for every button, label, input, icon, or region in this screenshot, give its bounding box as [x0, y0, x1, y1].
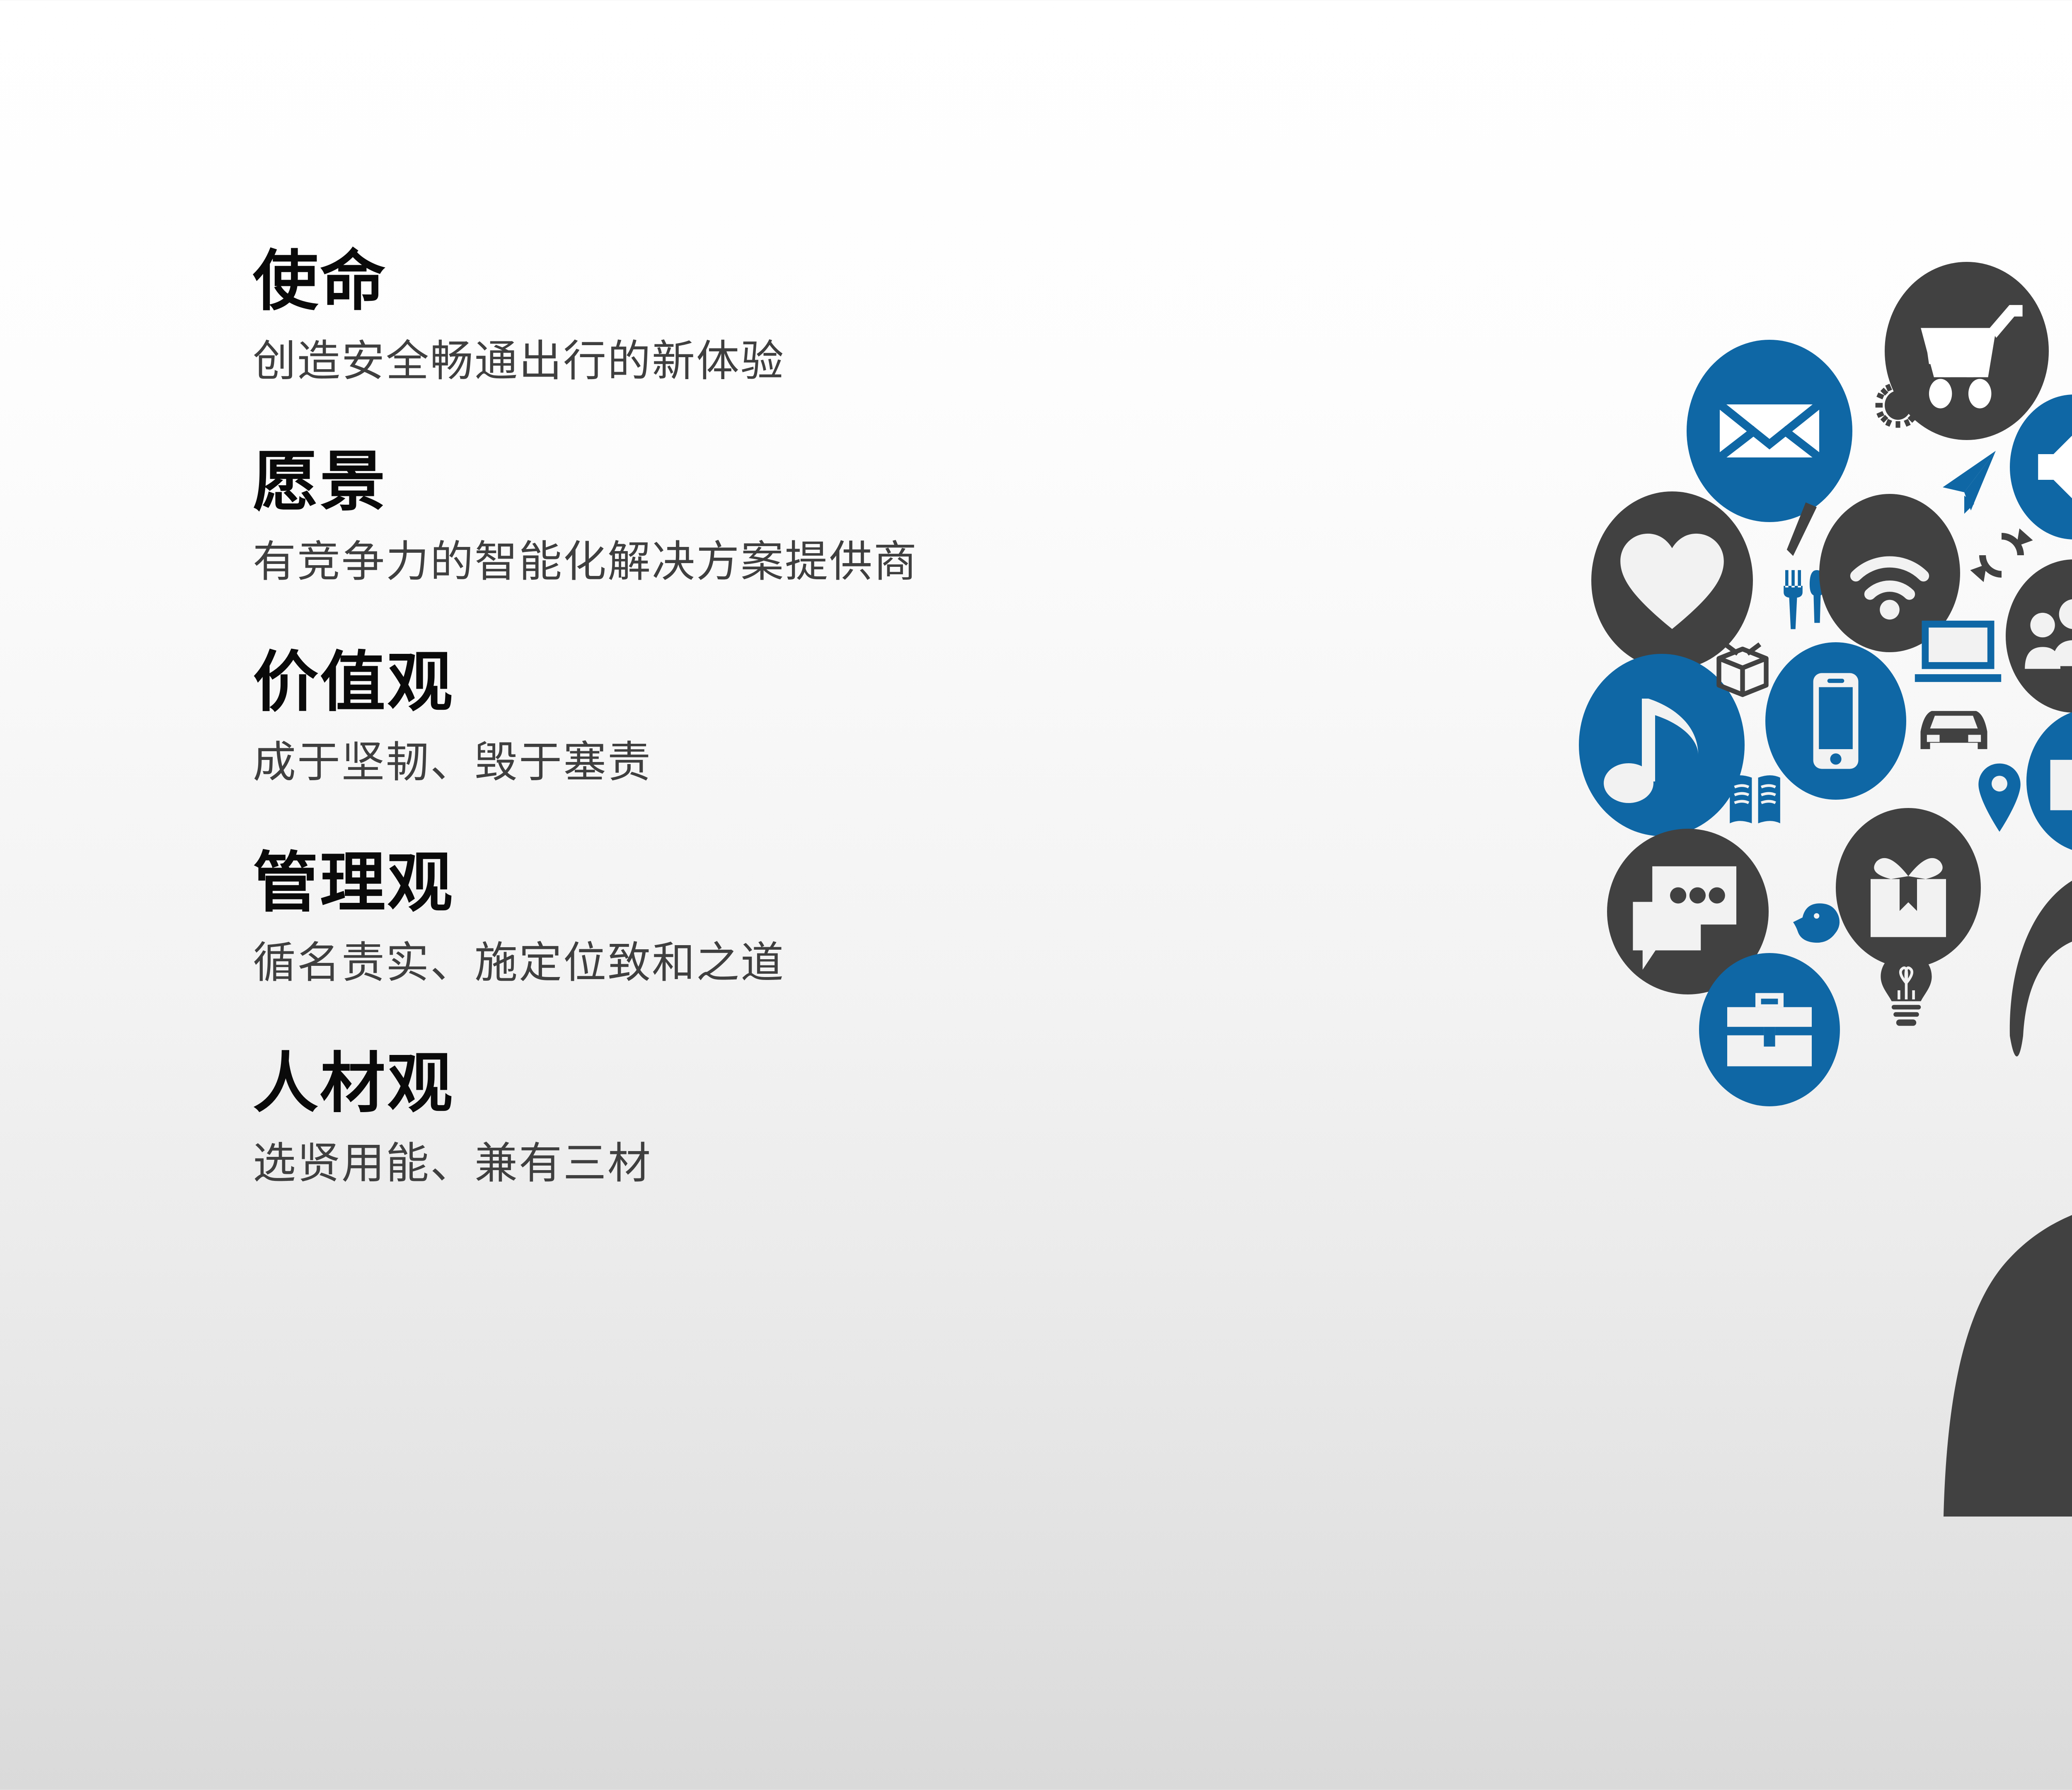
culture-block-management: 管理观 循名责实、施定位致和之道	[253, 850, 1330, 984]
culture-heading: 价值观	[253, 650, 1330, 715]
camera-icon	[2026, 709, 2072, 854]
culture-heading: 人材观	[253, 1051, 1330, 1116]
people-icon	[2006, 559, 2072, 713]
bulb-icon	[1869, 945, 1944, 1036]
culture-subtitle: 成于坚韧、毁于塞责	[253, 741, 1330, 784]
culture-heading: 愿景	[253, 449, 1330, 515]
culture-text-column: 使命 创造安全畅通出行的新体验 愿景 有竞争力的智能化解决方案提供商 价值观 成…	[253, 249, 1330, 1185]
laptop-icon	[1906, 613, 2010, 692]
block-spacer	[253, 784, 1330, 850]
block-spacer	[253, 984, 1330, 1051]
culture-subtitle: 选贤用能、兼有三材	[253, 1142, 1330, 1185]
small-bird-icon	[1782, 891, 1861, 961]
block-spacer	[253, 383, 1330, 449]
sun-icon	[1865, 372, 1931, 438]
slide-canvas: 使命 创造安全畅通出行的新体验 愿景 有竞争力的智能化解决方案提供商 价值观 成…	[0, 0, 2072, 1790]
car-icon	[1906, 692, 2002, 767]
culture-block-talent: 人材观 选贤用能、兼有三材	[253, 1051, 1330, 1185]
culture-subtitle: 有竞争力的智能化解决方案提供商	[253, 540, 1330, 583]
culture-heading: 管理观	[253, 850, 1330, 916]
culture-block-mission: 使命 创造安全畅通出行的新体验	[253, 249, 1330, 383]
culture-block-values: 价值观 成于坚韧、毁于塞责	[253, 650, 1330, 784]
culture-subtitle: 循名责实、施定位致和之道	[253, 941, 1330, 984]
block-spacer	[253, 583, 1330, 650]
icon-cloud-illustration	[1533, 215, 2072, 1525]
briefcase-icon	[1699, 953, 1840, 1106]
culture-subtitle: 创造安全畅通出行的新体验	[253, 340, 1330, 383]
culture-block-vision: 愿景 有竞争力的智能化解决方案提供商	[253, 449, 1330, 583]
culture-heading: 使命	[253, 249, 1330, 314]
